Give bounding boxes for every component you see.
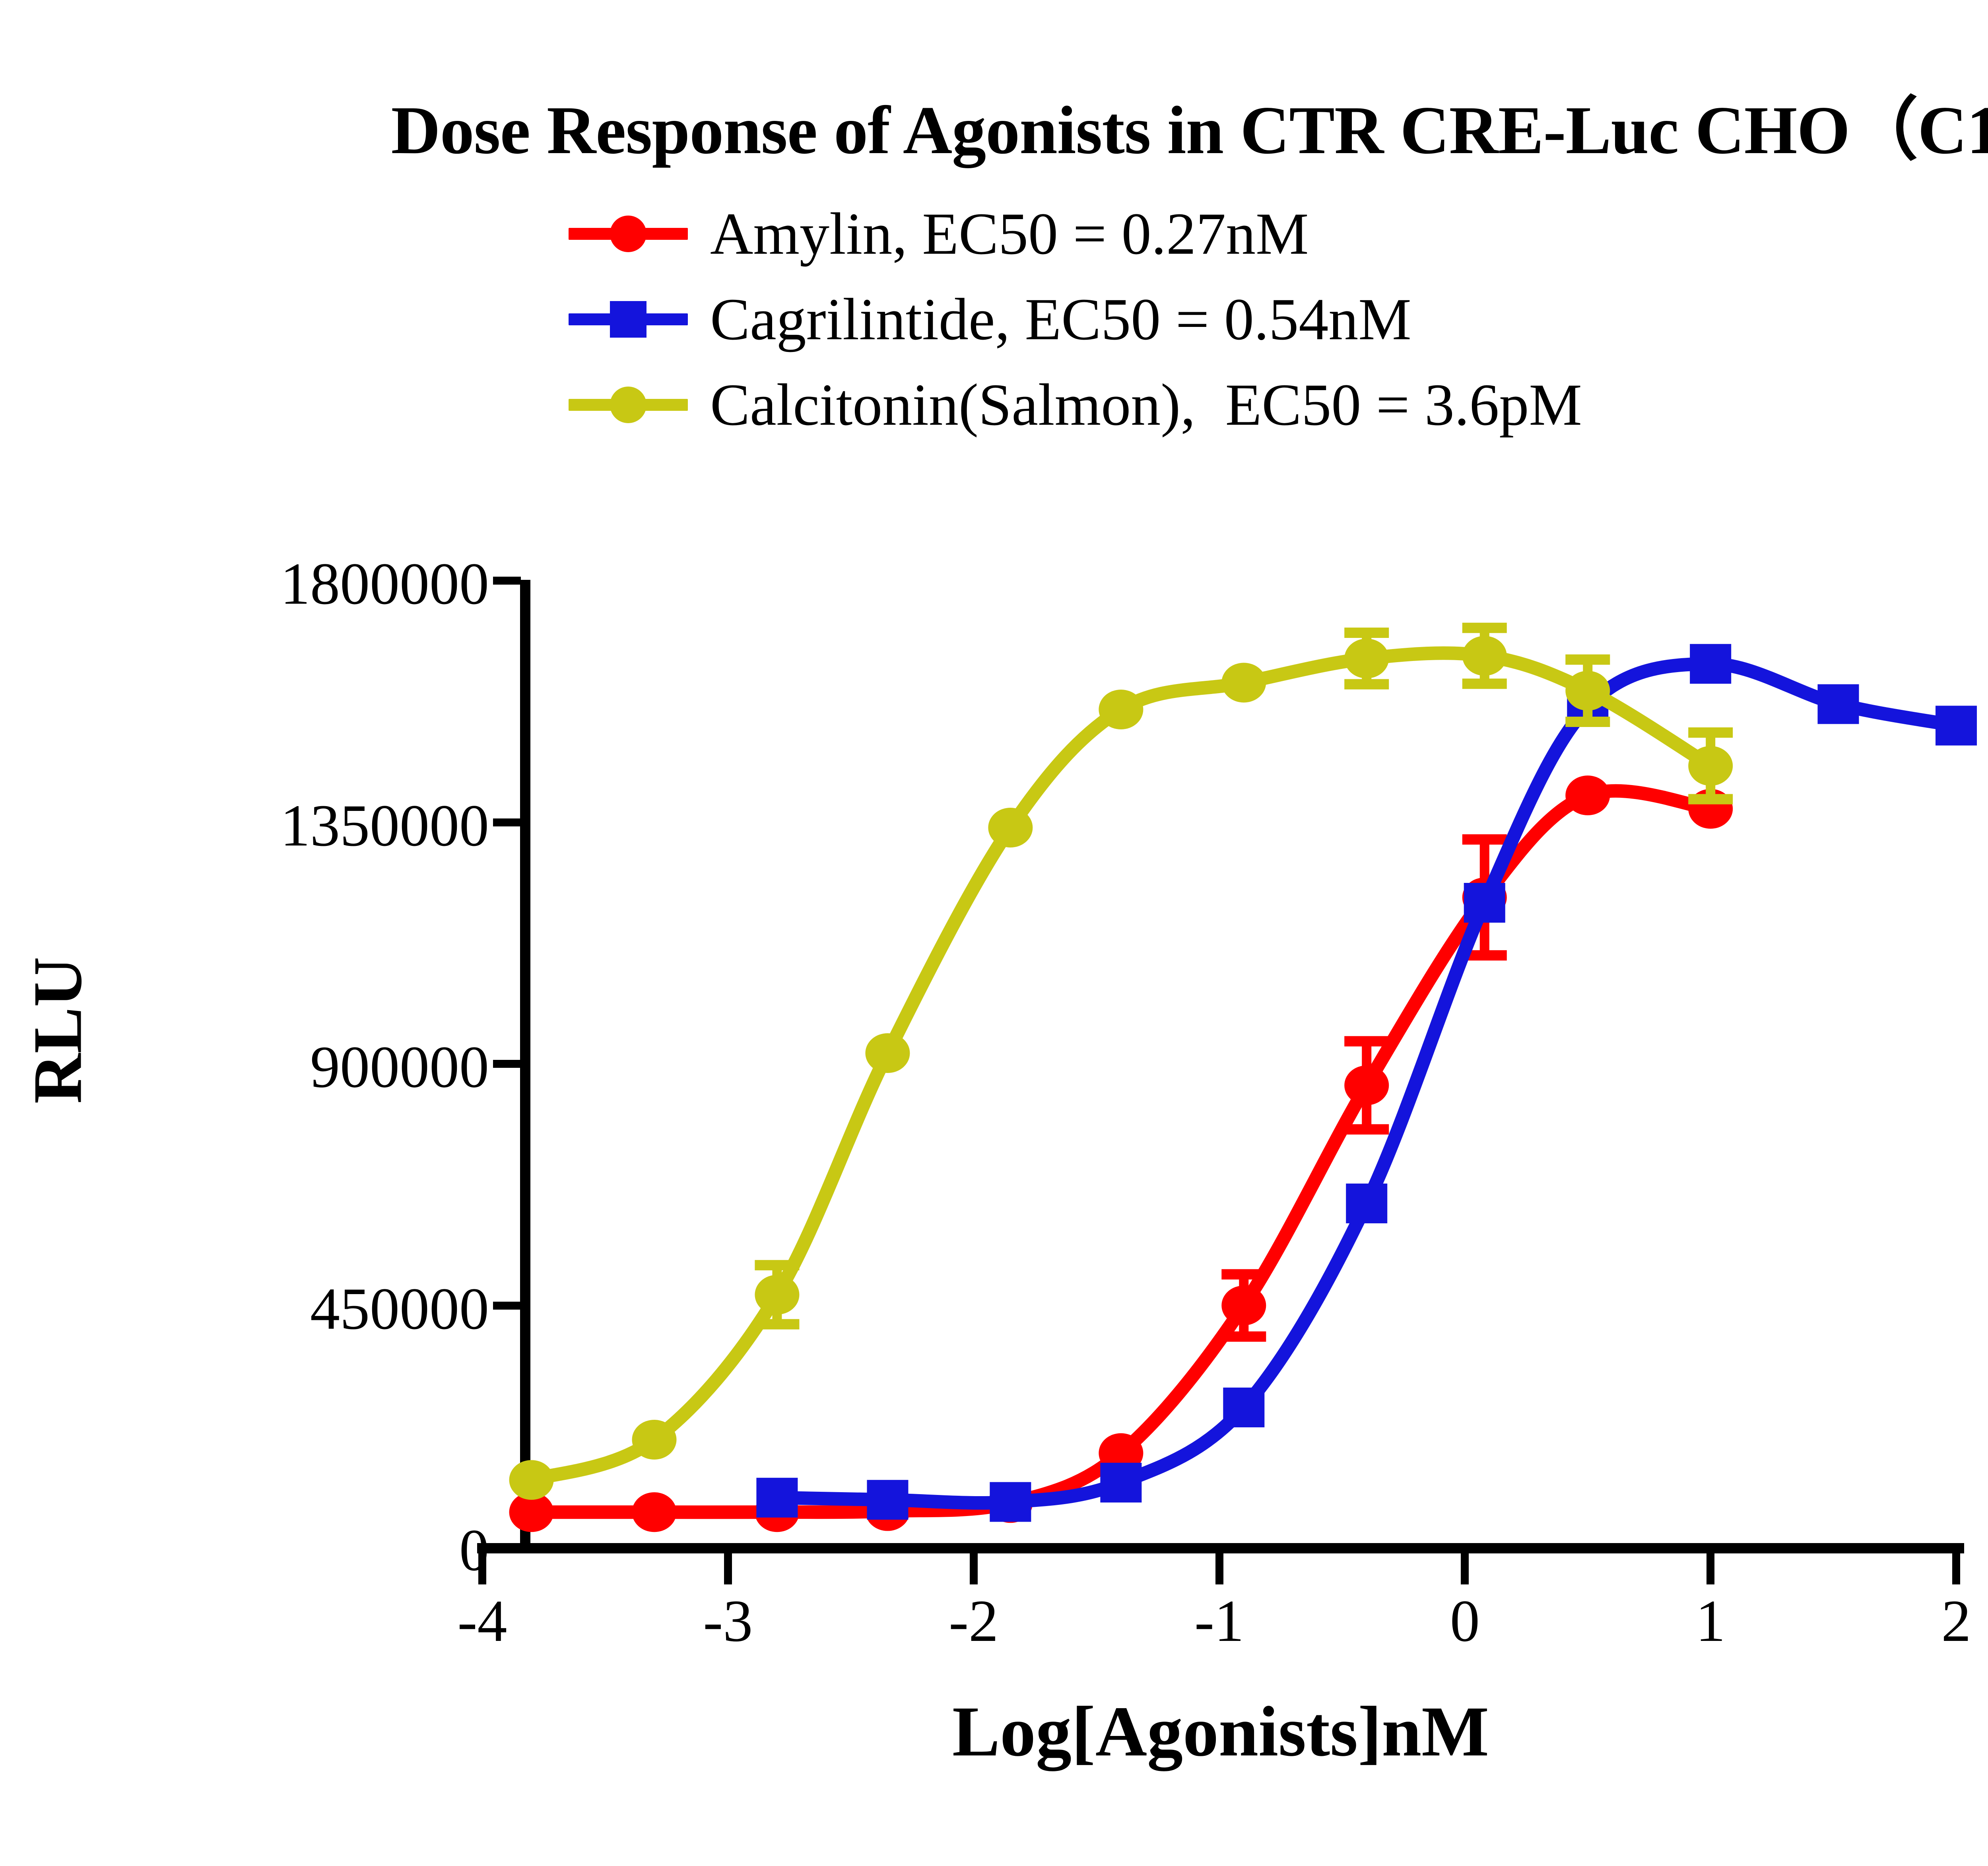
data-point: [755, 1275, 799, 1315]
data-point: [1817, 684, 1859, 724]
data-point: [867, 1480, 908, 1520]
data-point: [1688, 746, 1733, 786]
y-axis-label: RLU: [18, 871, 98, 1190]
series-amylin: [509, 776, 1733, 1532]
data-point: [1565, 671, 1610, 711]
data-point: [509, 1460, 554, 1500]
data-point: [632, 1492, 676, 1532]
series-line: [532, 653, 1711, 1480]
data-point: [1462, 636, 1507, 676]
data-point: [632, 1420, 676, 1460]
data-point: [1344, 1065, 1389, 1105]
chart-page: Dose Response of Agonists in CTR CRE-Luc…: [0, 0, 1988, 1866]
data-point: [756, 1478, 798, 1518]
data-point: [1936, 706, 1977, 746]
data-point: [1344, 639, 1389, 678]
series-line: [532, 791, 1711, 1512]
data-point: [990, 1482, 1031, 1522]
data-point: [1464, 883, 1505, 923]
data-point: [1346, 1184, 1387, 1223]
data-point: [865, 1033, 910, 1073]
data-point: [1221, 1286, 1266, 1326]
series-layer: [0, 0, 1988, 1866]
data-point: [988, 808, 1033, 847]
data-point: [1565, 776, 1610, 815]
data-point: [1100, 1463, 1142, 1503]
data-point: [1099, 690, 1143, 729]
data-point: [1223, 1388, 1264, 1427]
x-axis-label: Log[Agonists]nM: [477, 1690, 1964, 1773]
data-point: [1221, 663, 1266, 703]
data-point: [1690, 644, 1731, 684]
plot-area: 045000090000013500001800000 -4-3-2-1012: [0, 0, 1988, 1866]
